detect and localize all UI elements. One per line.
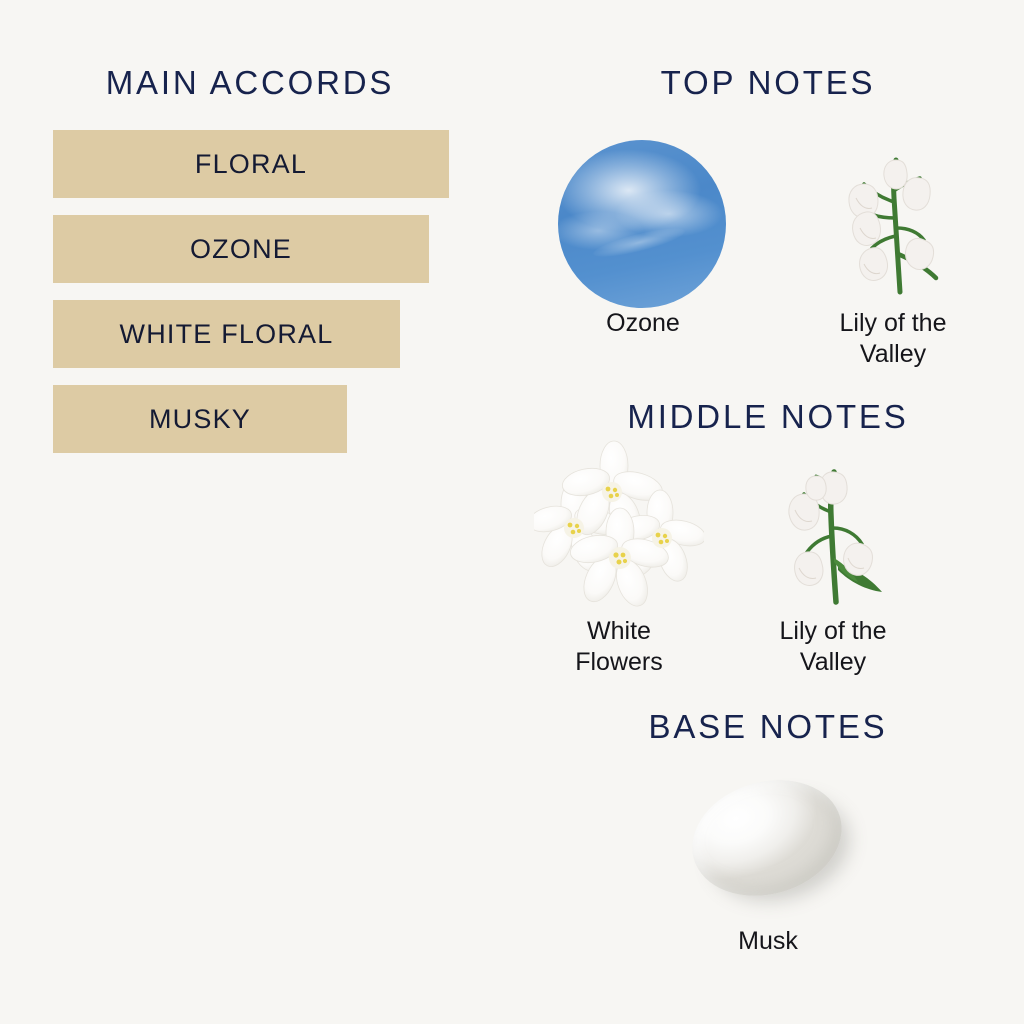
white-flowers-icon [534, 440, 704, 610]
note-art [683, 768, 853, 920]
note-label: White Flowers [554, 616, 684, 679]
note-label: Lily of the Valley [813, 308, 973, 371]
note-art [558, 132, 728, 302]
note-label: Lily of the Valley [758, 616, 908, 679]
accord-bar-musky[interactable]: MUSKY [53, 385, 347, 453]
main-accords-title: MAIN ACCORDS [0, 64, 500, 102]
base-notes-title: BASE NOTES [512, 708, 1024, 746]
lily-of-the-valley-icon [748, 440, 918, 610]
accord-bar-floral[interactable]: FLORAL [53, 130, 449, 198]
sky-sphere-icon [558, 140, 726, 308]
note-label: Ozone [606, 308, 680, 339]
accord-label: MUSKY [149, 404, 251, 435]
lily-of-the-valley-icon [808, 132, 978, 302]
base-notes-group: Musk [512, 768, 1024, 957]
middle-notes-title: MIDDLE NOTES [512, 398, 1024, 436]
accord-label: OZONE [190, 234, 292, 265]
note-item-lily-of-the-valley[interactable]: Lily of the Valley [748, 440, 918, 679]
note-item-white-flowers[interactable]: White Flowers [534, 440, 704, 679]
musk-stone-icon [683, 772, 853, 922]
middle-notes-group: White Flowers [470, 440, 982, 679]
top-notes-title: TOP NOTES [512, 64, 1024, 102]
accord-label: WHITE FLORAL [120, 319, 334, 350]
note-item-musk[interactable]: Musk [683, 768, 853, 957]
accord-label: FLORAL [195, 149, 307, 180]
note-art [808, 132, 978, 302]
top-notes-group: Ozone [512, 132, 1024, 371]
note-label: Musk [738, 926, 798, 957]
accord-bar-ozone[interactable]: OZONE [53, 215, 429, 283]
note-art [534, 440, 704, 610]
note-art [748, 440, 918, 610]
musk-stone-shape [679, 763, 856, 913]
accord-bar-white-floral[interactable]: WHITE FLORAL [53, 300, 400, 368]
note-item-lily-of-the-valley[interactable]: Lily of the Valley [808, 132, 978, 371]
note-item-ozone[interactable]: Ozone [558, 132, 728, 339]
fragrance-notes-infographic: MAIN ACCORDS FLORAL OZONE WHITE FLORAL M… [0, 0, 1024, 1024]
